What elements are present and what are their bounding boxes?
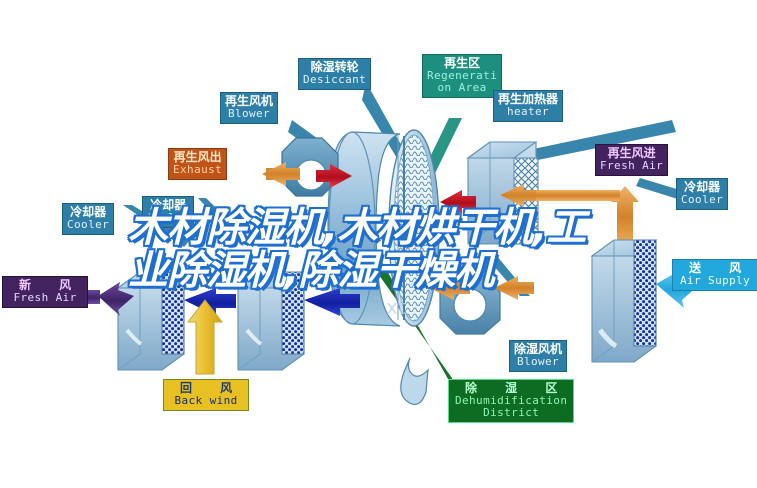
callout-dehumidification-blower-en: Blower — [514, 356, 562, 368]
callout-dehumidification-district-en2: District — [453, 407, 569, 419]
dehumidifier-schematic-diagram: xt — [0, 0, 757, 488]
callout-cooler-right-en: Cooler — [681, 194, 723, 206]
callout-regen-blower-cn: 再生风机 — [225, 95, 273, 108]
callout-cooler-left-outer: 冷却器 Cooler — [62, 203, 114, 235]
callout-regeneration-fresh-air: 再生风进 Fresh Air — [595, 144, 668, 176]
callout-regeneration-heater-en: heater — [498, 106, 558, 118]
callout-regeneration-heater: 再生加热器 heater — [493, 90, 563, 122]
callout-cooler-left-inner-en: Cooler — [147, 212, 189, 224]
callout-regen-blower-en: Blower — [225, 108, 273, 120]
callout-cooler-right: 冷却器 Cooler — [676, 178, 728, 210]
svg-text:xt: xt — [386, 295, 406, 319]
cooler-block-right — [592, 240, 656, 362]
callout-fresh-air-inlet: 新 风 Fresh Air — [2, 276, 88, 308]
callout-regeneration-exhaust-en: Exhaust — [173, 164, 222, 176]
callout-regeneration-area: 再生区 Regenerati on Area — [422, 54, 502, 98]
callout-back-wind: 回 风 Back wind — [163, 379, 249, 411]
callout-dehumidification-blower-cn: 除湿风机 — [514, 343, 562, 356]
callout-cooler-left-outer-en: Cooler — [67, 219, 109, 231]
callout-back-wind-cn: 回 风 — [168, 382, 244, 395]
callout-regeneration-fresh-air-cn: 再生风进 — [600, 147, 663, 160]
callout-air-supply-cn: 送 风 — [677, 262, 753, 275]
callout-cooler-left-inner-cn: 冷却器 — [147, 199, 189, 212]
cooler-block-left-inner — [238, 272, 304, 370]
callout-fresh-air-inlet-en: Fresh Air — [7, 292, 83, 304]
callout-regen-blower: 再生风机 Blower — [220, 92, 278, 124]
diagram-graphics: xt — [0, 0, 757, 488]
callout-desiccant-wheel-cn: 除湿转轮 — [303, 61, 366, 74]
callout-dehumidification-district: 除 湿 区 Dehumidification District — [448, 379, 574, 423]
callout-regeneration-heater-cn: 再生加热器 — [498, 93, 558, 106]
callout-regeneration-fresh-air-en: Fresh Air — [600, 160, 663, 172]
callout-cooler-left-outer-cn: 冷却器 — [67, 206, 109, 219]
callout-cooler-left-inner: 冷却器 Cooler — [142, 196, 194, 228]
callout-air-supply-en: Air Supply — [677, 275, 753, 287]
callout-desiccant-wheel-en: Desiccant — [303, 74, 366, 86]
callout-back-wind-en: Back wind — [168, 395, 244, 407]
callout-dehumidification-district-cn: 除 湿 区 — [453, 382, 569, 395]
callout-air-supply: 送 风 Air Supply — [672, 259, 757, 291]
callout-regeneration-area-en2: on Area — [427, 82, 497, 94]
back-wind-arrow — [188, 300, 222, 374]
callout-regeneration-exhaust: 再生风出 Exhaust — [168, 148, 227, 180]
callout-fresh-air-inlet-cn: 新 风 — [7, 279, 83, 292]
cooler-block-left-outer — [118, 272, 184, 370]
callout-dehumidification-blower: 除湿风机 Blower — [509, 340, 567, 372]
callout-regeneration-exhaust-cn: 再生风出 — [173, 151, 222, 164]
callout-desiccant-wheel: 除湿转轮 Desiccant — [298, 58, 371, 90]
callout-cooler-right-cn: 冷却器 — [681, 181, 723, 194]
callout-regeneration-area-cn: 再生区 — [427, 57, 497, 70]
